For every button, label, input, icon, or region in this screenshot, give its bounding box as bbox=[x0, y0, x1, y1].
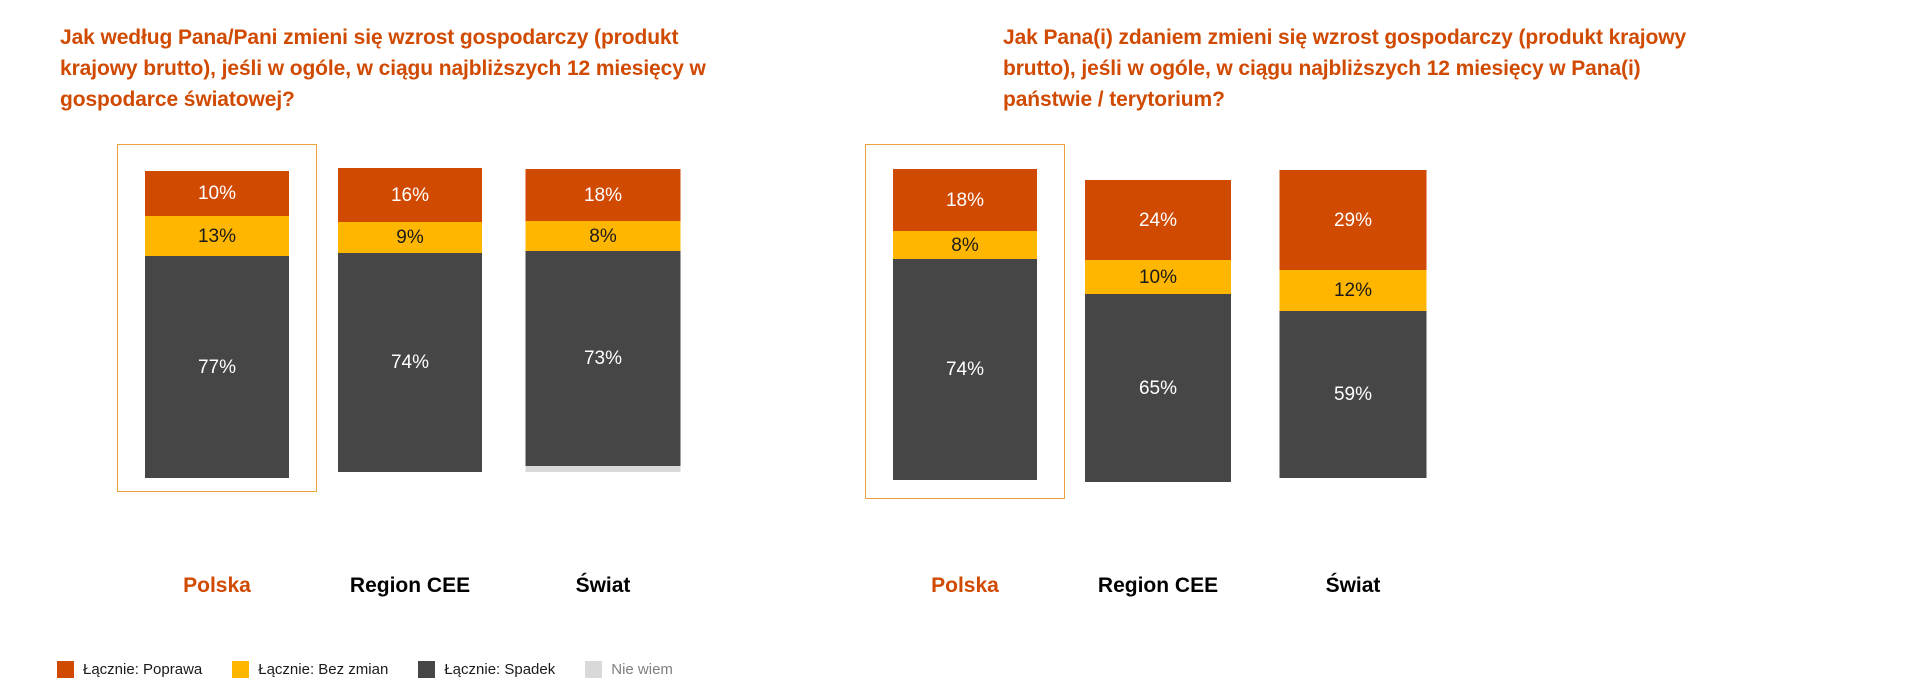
bar-group-swiat-world: 18% 8% 73% Świat bbox=[508, 140, 698, 620]
segment-improve[interactable]: 10% bbox=[145, 171, 289, 216]
segment-label-decline: 65% bbox=[1139, 379, 1177, 398]
segment-decline[interactable]: 74% bbox=[893, 259, 1037, 480]
segment-improve[interactable]: 16% bbox=[338, 168, 482, 222]
stacked-bar-polska-world[interactable]: 10% 13% 77% bbox=[145, 171, 289, 478]
segment-label-same: 8% bbox=[951, 236, 978, 255]
segment-label-same: 10% bbox=[1139, 268, 1177, 287]
segment-same[interactable]: 12% bbox=[1280, 270, 1427, 311]
segment-dontknow[interactable] bbox=[526, 466, 681, 472]
segment-same[interactable]: 9% bbox=[338, 222, 482, 253]
segment-label-same: 8% bbox=[589, 227, 616, 246]
stacked-bar-swiat-domestic[interactable]: 29% 12% 59% bbox=[1280, 170, 1427, 478]
plot-area-domestic: 18% 8% 74% Polska 24% 10% bbox=[960, 140, 1920, 620]
segment-same[interactable]: 10% bbox=[1085, 260, 1231, 294]
stacked-bar-swiat-world[interactable]: 18% 8% 73% bbox=[526, 169, 681, 472]
legend-label-decline: Łącznie: Spadek bbox=[444, 661, 555, 678]
segment-label-improve: 24% bbox=[1139, 211, 1177, 230]
bar-group-polska-domestic: 18% 8% 74% Polska bbox=[870, 140, 1060, 620]
segment-label-same: 9% bbox=[396, 228, 423, 247]
segment-improve[interactable]: 24% bbox=[1085, 180, 1231, 260]
segment-label-decline: 77% bbox=[198, 358, 236, 377]
segment-improve[interactable]: 18% bbox=[526, 169, 681, 221]
segment-decline[interactable]: 59% bbox=[1280, 311, 1427, 478]
segment-same[interactable]: 8% bbox=[893, 231, 1037, 259]
segment-same[interactable]: 13% bbox=[145, 216, 289, 256]
segment-improve[interactable]: 29% bbox=[1280, 170, 1427, 270]
segment-label-improve: 16% bbox=[391, 186, 429, 205]
segment-label-same: 12% bbox=[1334, 281, 1372, 300]
segment-improve[interactable]: 18% bbox=[893, 169, 1037, 231]
chart-panel-world: Jak według Pana/Pani zmieni się wzrost g… bbox=[0, 0, 960, 694]
segment-same[interactable]: 8% bbox=[526, 221, 681, 251]
stacked-bar-region-cee-world[interactable]: 16% 9% 74% bbox=[338, 168, 482, 472]
legend-label-dontknow: Nie wiem bbox=[611, 661, 673, 678]
segment-label-decline: 73% bbox=[584, 349, 622, 368]
legend-item-improve[interactable]: Łącznie: Poprawa bbox=[57, 661, 202, 678]
bar-group-polska-world: 10% 13% 77% Polska bbox=[122, 140, 312, 620]
panel-title-domestic: Jak Pana(i) zdaniem zmieni się wzrost go… bbox=[1003, 22, 1703, 115]
segment-label-improve: 10% bbox=[198, 184, 236, 203]
segment-decline[interactable]: 77% bbox=[145, 256, 289, 478]
legend-item-dontknow[interactable]: Nie wiem bbox=[585, 661, 673, 678]
plot-area-world: 10% 13% 77% Polska 16% 9% bbox=[0, 140, 960, 620]
segment-label-decline: 59% bbox=[1334, 385, 1372, 404]
legend-swatch-dontknow-icon bbox=[585, 661, 602, 678]
segment-label-decline: 74% bbox=[946, 360, 984, 379]
chart-legend: Łącznie: Poprawa Łącznie: Bez zmian Łącz… bbox=[57, 661, 703, 678]
segment-label-same: 13% bbox=[198, 227, 236, 246]
segment-label-improve: 18% bbox=[946, 191, 984, 210]
category-label-polska: Polska bbox=[870, 574, 1060, 598]
segment-decline[interactable]: 74% bbox=[338, 253, 482, 472]
chart-panel-domestic: Jak Pana(i) zdaniem zmieni się wzrost go… bbox=[960, 0, 1920, 694]
segment-decline[interactable]: 73% bbox=[526, 251, 681, 466]
category-label-polska: Polska bbox=[122, 574, 312, 598]
bar-group-swiat-domestic: 29% 12% 59% Świat bbox=[1258, 140, 1448, 620]
category-label-region-cee: Region CEE bbox=[1063, 574, 1253, 598]
panel-title-world: Jak według Pana/Pani zmieni się wzrost g… bbox=[60, 22, 760, 115]
segment-label-decline: 74% bbox=[391, 353, 429, 372]
legend-label-same: Łącznie: Bez zmian bbox=[258, 661, 388, 678]
bar-group-region-cee-domestic: 24% 10% 65% Region CEE bbox=[1063, 140, 1253, 620]
stacked-bar-polska-domestic[interactable]: 18% 8% 74% bbox=[893, 169, 1037, 480]
category-label-swiat: Świat bbox=[1258, 574, 1448, 598]
segment-label-improve: 29% bbox=[1334, 211, 1372, 230]
segment-decline[interactable]: 65% bbox=[1085, 294, 1231, 482]
legend-swatch-same-icon bbox=[232, 661, 249, 678]
segment-label-improve: 18% bbox=[584, 186, 622, 205]
category-label-region-cee: Region CEE bbox=[315, 574, 505, 598]
legend-label-improve: Łącznie: Poprawa bbox=[83, 661, 202, 678]
legend-swatch-decline-icon bbox=[418, 661, 435, 678]
legend-swatch-improve-icon bbox=[57, 661, 74, 678]
category-label-swiat: Świat bbox=[508, 574, 698, 598]
stacked-bar-region-cee-domestic[interactable]: 24% 10% 65% bbox=[1085, 180, 1231, 482]
legend-item-same[interactable]: Łącznie: Bez zmian bbox=[232, 661, 388, 678]
legend-item-decline[interactable]: Łącznie: Spadek bbox=[418, 661, 555, 678]
bar-group-region-cee-world: 16% 9% 74% Region CEE bbox=[315, 140, 505, 620]
